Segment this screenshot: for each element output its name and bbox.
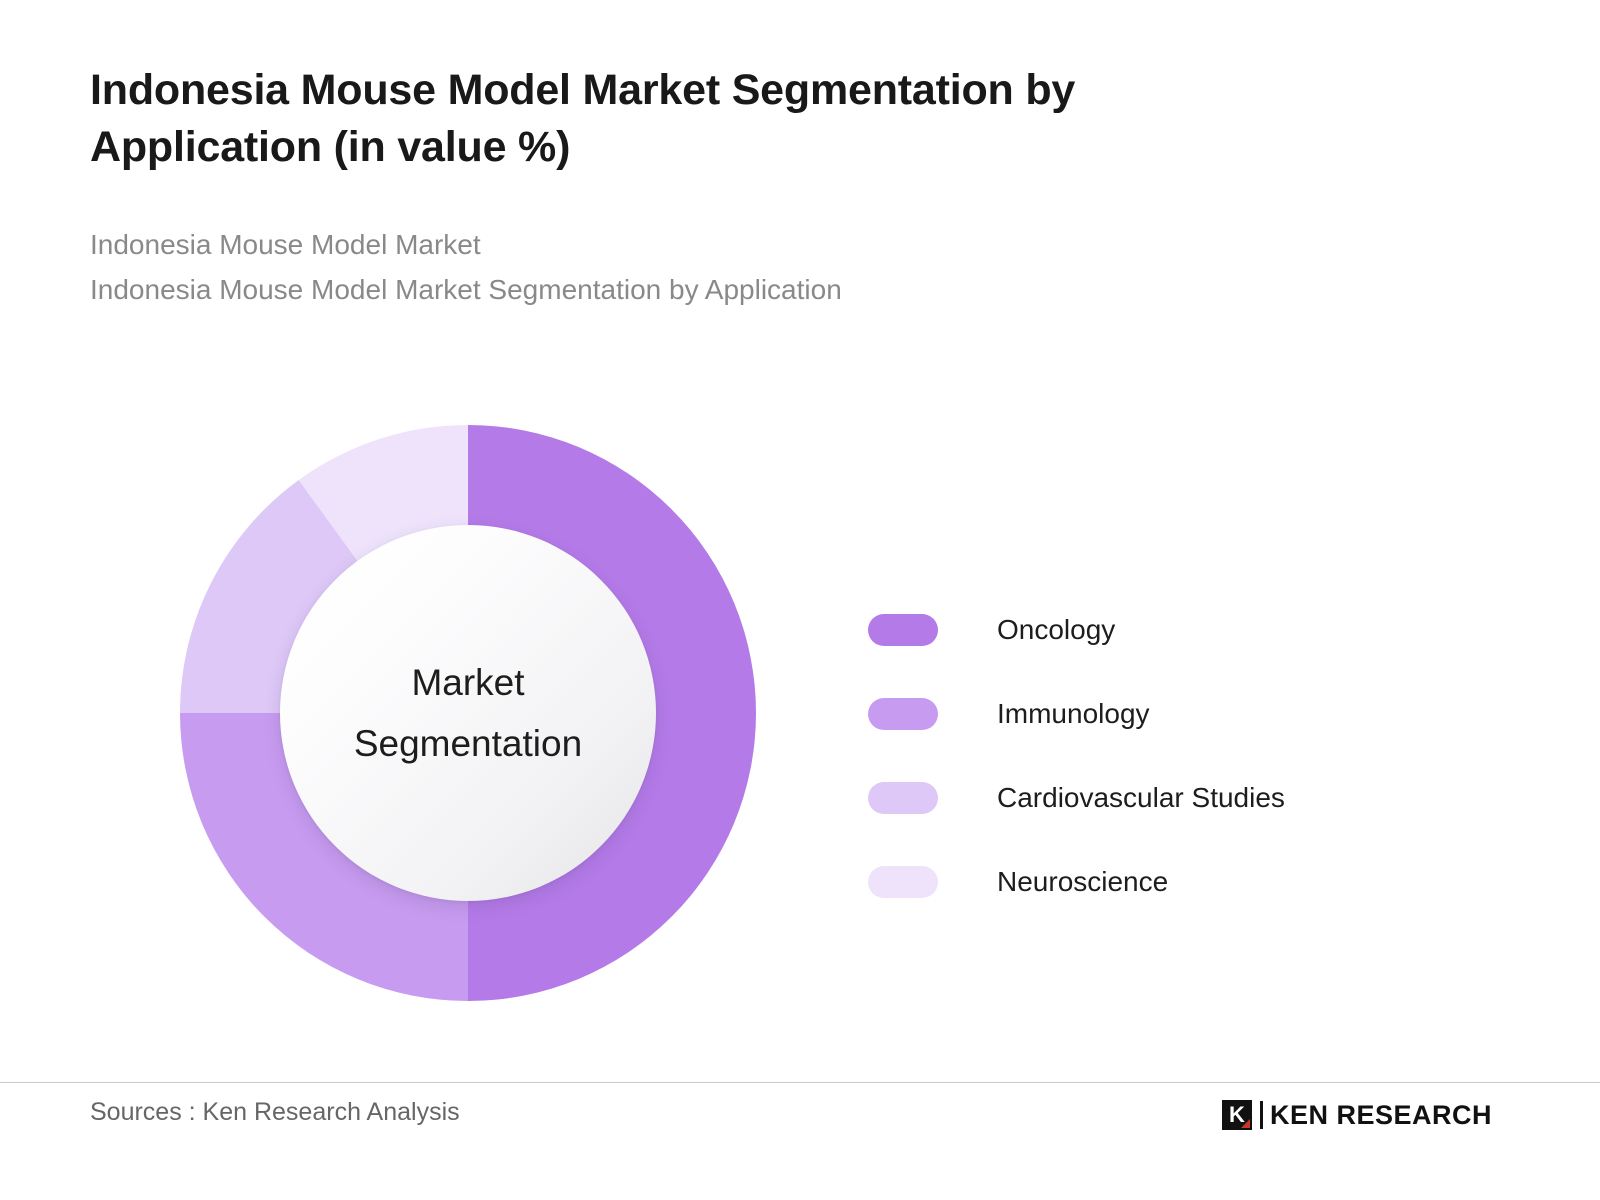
ken-logo-separator: [1260, 1101, 1263, 1129]
legend-item[interactable]: Cardiovascular Studies: [868, 756, 1488, 840]
legend-label: Immunology: [997, 698, 1150, 730]
footer-divider: [0, 1082, 1600, 1083]
legend-item[interactable]: Neuroscience: [868, 840, 1488, 924]
ken-research-logo: K KEN RESEARCH: [1222, 1098, 1492, 1132]
legend-label: Cardiovascular Studies: [997, 782, 1285, 814]
legend-label: Neuroscience: [997, 866, 1168, 898]
slide-canvas: Indonesia Mouse Model Market Segmentatio…: [0, 0, 1600, 1200]
chart-area: Market Segmentation OncologyImmunologyCa…: [0, 400, 1600, 1040]
chart-legend: OncologyImmunologyCardiovascular Studies…: [868, 588, 1488, 924]
donut-center-label: Market Segmentation: [280, 525, 656, 901]
ken-logo-triangle-icon: [1241, 1119, 1250, 1128]
legend-swatch: [868, 698, 938, 730]
chart-header: Indonesia Mouse Model Market Segmentatio…: [90, 62, 1330, 312]
donut-center-line-2: Segmentation: [354, 713, 582, 774]
legend-swatch: [868, 866, 938, 898]
legend-swatch: [868, 614, 938, 646]
legend-item[interactable]: Oncology: [868, 588, 1488, 672]
subtitle-line-2: Indonesia Mouse Model Market Segmentatio…: [90, 267, 1330, 312]
ken-logo-wordmark: KEN RESEARCH: [1270, 1100, 1492, 1131]
donut-center-line-1: Market: [411, 652, 524, 713]
page-title: Indonesia Mouse Model Market Segmentatio…: [90, 62, 1300, 176]
footer-sources: Sources : Ken Research Analysis: [90, 1098, 460, 1127]
legend-item[interactable]: Immunology: [868, 672, 1488, 756]
donut-chart: Market Segmentation: [180, 425, 756, 1001]
subtitle-line-1: Indonesia Mouse Model Market: [90, 222, 1330, 267]
ken-logo-mark-icon: K: [1222, 1100, 1252, 1130]
subtitle-block: Indonesia Mouse Model Market Indonesia M…: [90, 222, 1330, 313]
legend-label: Oncology: [997, 614, 1115, 646]
legend-swatch: [868, 782, 938, 814]
